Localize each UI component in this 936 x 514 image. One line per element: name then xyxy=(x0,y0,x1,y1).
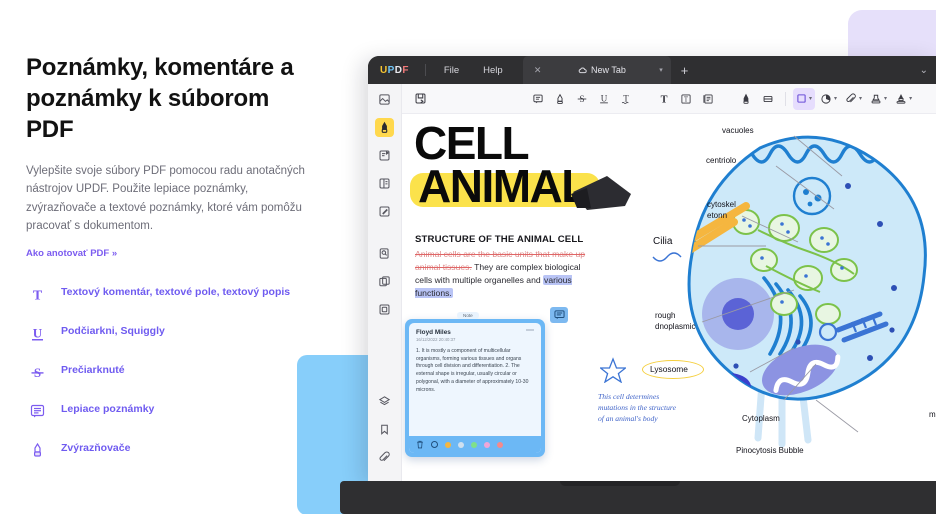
tab-title-text: New Tab xyxy=(591,65,626,75)
strikethrough-S-icon: S xyxy=(26,361,48,383)
feature-item-text-comment[interactable]: T Textový komentár, textové pole, textov… xyxy=(26,283,316,305)
highlight-tool[interactable] xyxy=(550,88,570,110)
signature-tool[interactable]: ▾ xyxy=(892,88,915,110)
edit-panel-icon[interactable] xyxy=(375,202,394,221)
feature-label: Prečiarknuté xyxy=(61,361,125,377)
feature-item-sticky-notes[interactable]: Lepiace poznámky xyxy=(26,400,316,422)
strikethrough-tool[interactable]: S xyxy=(572,88,592,110)
chevron-down-icon[interactable]: ▾ xyxy=(859,95,862,102)
comments-panel-icon[interactable] xyxy=(375,146,394,165)
label-vacuoles: vacuoles xyxy=(722,126,754,135)
pie-shape-tool[interactable]: ▾ xyxy=(817,88,840,110)
underline-U-icon: U xyxy=(26,322,48,344)
text-box-tool[interactable]: T xyxy=(676,88,696,110)
cloud-icon xyxy=(578,66,587,74)
eraser-tool[interactable] xyxy=(758,88,778,110)
handwritten-note: This cell determines mutations in the st… xyxy=(598,392,676,424)
feature-item-strikethrough[interactable]: S Prečiarknuté xyxy=(26,361,316,383)
titlebar-divider xyxy=(425,64,426,76)
app-body: S U T T T xyxy=(368,84,936,481)
sticky-note-tool[interactable] xyxy=(528,88,548,110)
logo-letter-p: P xyxy=(388,65,395,76)
feature-label: Textový komentár, textové pole, textový … xyxy=(61,283,290,299)
app-titlebar: U P D F File Help ✕ New Tab ▾ + ⌄ xyxy=(368,56,936,84)
svg-text:T: T xyxy=(623,93,629,103)
feature-label: Zvýrazňovače xyxy=(61,439,130,455)
toolbar-separator xyxy=(785,92,786,106)
svg-text:U: U xyxy=(601,93,608,103)
cilia-squiggle-underline xyxy=(651,252,691,264)
label-centriolo: centriolo xyxy=(706,156,736,165)
svg-text:T: T xyxy=(661,94,668,105)
chevron-down-icon[interactable]: ▾ xyxy=(834,95,837,102)
updf-logo: U P D F xyxy=(368,56,419,84)
star-annotation-icon xyxy=(600,357,626,383)
label-pinocytosis: Pinocytosis Bubble xyxy=(736,446,804,455)
label-rough-er: rough dnoplasmic xyxy=(655,310,695,332)
app-content: S U T T T xyxy=(402,84,936,481)
svg-text:T: T xyxy=(684,96,689,103)
crop-page-icon[interactable] xyxy=(375,300,394,319)
text-callout-tool[interactable] xyxy=(698,88,718,110)
attachment-icon[interactable] xyxy=(375,448,394,467)
label-mitochondria: mit xyxy=(929,410,936,419)
annotation-toolbar: S U T T T xyxy=(402,84,936,114)
tab-label: New Tab xyxy=(551,65,653,75)
pencil-tool[interactable] xyxy=(736,88,756,110)
label-cytoplasm: Cytoplasm xyxy=(742,414,780,423)
label-cytoskeleton: cytoskel etonn xyxy=(707,200,736,222)
organize-pages-icon[interactable] xyxy=(375,272,394,291)
title-line-animal: ANIMAL xyxy=(414,165,592,208)
chevron-down-icon[interactable]: ▾ xyxy=(884,95,887,102)
laptop-notch xyxy=(560,481,680,486)
close-icon[interactable]: ✕ xyxy=(531,65,545,76)
label-cilia: Cilia xyxy=(653,236,672,247)
text-T-icon: T xyxy=(26,283,48,305)
tab-new-tab[interactable]: ✕ New Tab ▾ xyxy=(523,56,671,84)
highlighter-marker-graphic xyxy=(567,170,637,216)
feature-list: T Textový komentár, textové pole, textov… xyxy=(26,283,316,461)
menu-file[interactable]: File xyxy=(432,56,471,84)
page-root: Poznámky, komentáre a poznámky k súborom… xyxy=(0,0,936,514)
bookmarks-list-icon[interactable] xyxy=(375,174,394,193)
thumbnail-panel-icon[interactable] xyxy=(375,90,394,109)
annotation-highlighter-icon[interactable] xyxy=(375,118,394,137)
feature-label: Podčiarkni, Squiggly xyxy=(61,322,165,338)
window-chevron-down-icon[interactable]: ⌄ xyxy=(920,56,928,84)
feature-label: Lepiace poznámky xyxy=(61,400,154,416)
marketing-description: Vylepšite svoje súbory PDF pomocou radu … xyxy=(26,162,316,237)
chevron-down-icon[interactable]: ▾ xyxy=(659,66,663,74)
updf-app-window: U P D F File Help ✕ New Tab ▾ + ⌄ xyxy=(368,56,936,481)
search-document-icon[interactable] xyxy=(375,244,394,263)
how-to-annotate-link[interactable]: Ako anotovať PDF » xyxy=(26,248,117,259)
page-title: Poznámky, komentáre a poznámky k súborom… xyxy=(26,52,316,146)
highlighter-icon xyxy=(26,439,48,461)
svg-text:S: S xyxy=(579,95,584,105)
text-tool[interactable]: T xyxy=(654,88,674,110)
shape-tool[interactable]: ▾ xyxy=(793,88,815,110)
attachment-tool[interactable]: ▾ xyxy=(842,88,865,110)
squiggly-tool[interactable]: T xyxy=(616,88,636,110)
chevron-down-icon[interactable]: ▾ xyxy=(909,95,912,102)
layers-icon[interactable] xyxy=(375,392,394,411)
stamp-tool[interactable]: ▾ xyxy=(867,88,890,110)
chevron-down-icon[interactable]: ▾ xyxy=(809,95,812,102)
app-sidebar-rail xyxy=(368,84,402,481)
bookmark-icon[interactable] xyxy=(375,420,394,439)
logo-letter-f: F xyxy=(402,65,409,76)
svg-text:U: U xyxy=(32,325,42,340)
menu-help[interactable]: Help xyxy=(471,56,515,84)
new-tab-button[interactable]: + xyxy=(671,56,699,84)
pdf-page-canvas[interactable]: CELL ANIMAL STRUCTURE OF THE ANIMAL CELL… xyxy=(402,114,936,481)
label-lysosome: Lysosome xyxy=(650,364,688,374)
feature-item-underline[interactable]: U Podčiarkni, Squiggly xyxy=(26,322,316,344)
logo-letter-d: D xyxy=(395,65,403,76)
marketing-column: Poznámky, komentáre a poznámky k súborom… xyxy=(26,52,316,478)
underline-tool[interactable]: U xyxy=(594,88,614,110)
logo-letter-u: U xyxy=(380,65,388,76)
feature-item-highlighter[interactable]: Zvýrazňovače xyxy=(26,439,316,461)
sticky-note-icon xyxy=(26,400,48,422)
save-file-icon[interactable] xyxy=(410,88,430,110)
svg-text:T: T xyxy=(32,288,42,303)
